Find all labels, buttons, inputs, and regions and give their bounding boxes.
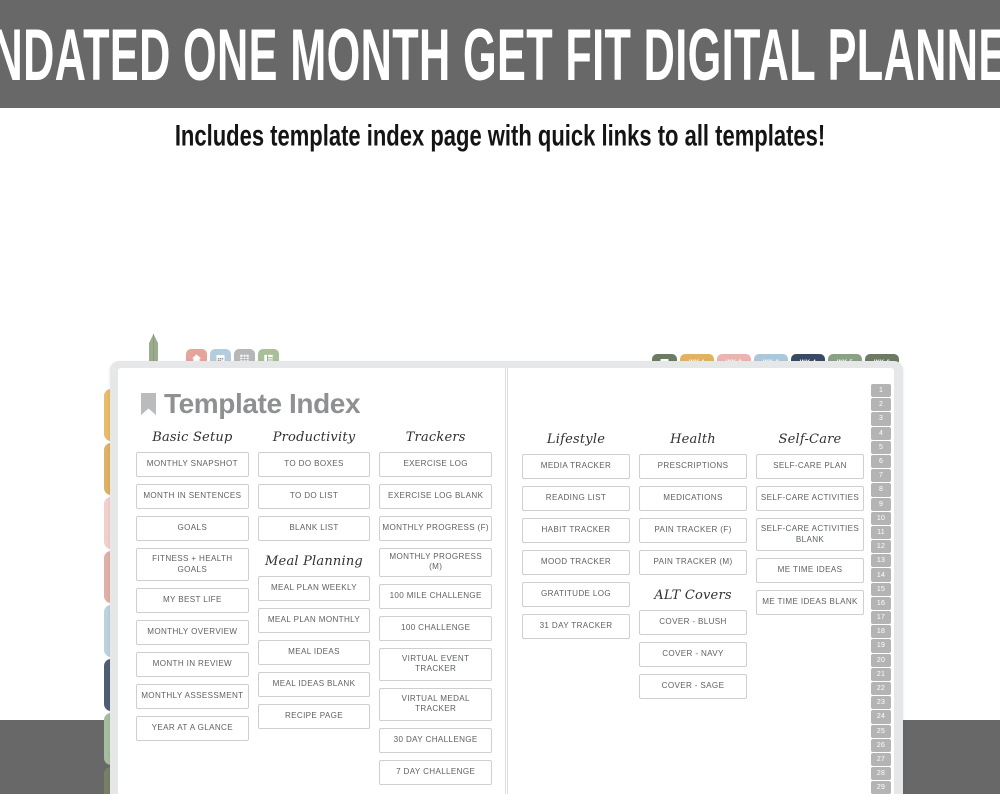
section-heading-meal-planning: Meal Planning [258, 554, 371, 569]
left-page: Template Index Basic SetupMONTHLY SNAPSH… [118, 368, 506, 794]
template-link-medications[interactable]: MEDICATIONS [639, 486, 747, 511]
day-tab-6[interactable]: 6 [871, 455, 891, 468]
section-heading-self-care: Self-Care [756, 432, 864, 447]
planner-stage: WK 1WK 2WK 3WK 4WK 5WK 6 Template Index … [0, 164, 1000, 720]
day-tab-19[interactable]: 19 [871, 639, 891, 652]
planner-device: Template Index Basic SetupMONTHLY SNAPSH… [110, 361, 903, 794]
day-tab-3[interactable]: 3 [871, 412, 891, 425]
day-tab-15[interactable]: 15 [871, 583, 891, 596]
day-tab-10[interactable]: 10 [871, 512, 891, 525]
template-link-virtual-medal-tracker[interactable]: VIRTUAL MEDAL TRACKER [379, 688, 492, 721]
template-link-self-care-activities-blank[interactable]: SELF-CARE ACTIVITIES BLANK [756, 518, 864, 551]
template-link-meal-plan-monthly[interactable]: MEAL PLAN MONTHLY [258, 608, 371, 633]
day-number-tabs: 1234567891011121314151617181920212223242… [871, 384, 891, 794]
template-link-media-tracker[interactable]: MEDIA TRACKER [522, 454, 630, 479]
planner-pages: Template Index Basic SetupMONTHLY SNAPSH… [118, 368, 894, 794]
day-tab-2[interactable]: 2 [871, 398, 891, 411]
subtitle-row: Includes template index page with quick … [0, 108, 1000, 164]
day-tab-16[interactable]: 16 [871, 597, 891, 610]
template-link-monthly-assessment[interactable]: MONTHLY ASSESSMENT [136, 684, 249, 709]
bookmark-icon [140, 392, 157, 416]
day-tab-25[interactable]: 25 [871, 725, 891, 738]
day-tab-28[interactable]: 28 [871, 767, 891, 780]
day-tab-29[interactable]: 29 [871, 781, 891, 794]
index-column-health: HealthPRESCRIPTIONSMEDICATIONSPAIN TRACK… [639, 432, 747, 706]
index-column-self-care: Self-CareSELF-CARE PLANSELF-CARE ACTIVIT… [756, 432, 864, 706]
template-link-month-in-review[interactable]: MONTH IN REVIEW [136, 652, 249, 677]
template-link-to-do-list[interactable]: TO DO LIST [258, 484, 371, 509]
template-link-pain-tracker-m[interactable]: PAIN TRACKER (M) [639, 550, 747, 575]
section-heading-lifestyle: Lifestyle [522, 432, 630, 447]
section-heading-health: Health [639, 432, 747, 447]
index-column-trackers: TrackersEXERCISE LOGEXERCISE LOG BLANKMO… [379, 430, 492, 792]
day-tab-11[interactable]: 11 [871, 526, 891, 539]
section-heading-productivity: Productivity [258, 430, 371, 445]
template-link-habit-tracker[interactable]: HABIT TRACKER [522, 518, 630, 543]
page-title: Template Index [164, 388, 360, 420]
template-link-7-day-challenge[interactable]: 7 DAY CHALLENGE [379, 760, 492, 785]
template-link-mood-tracker[interactable]: MOOD TRACKER [522, 550, 630, 575]
template-link-reading-list[interactable]: READING LIST [522, 486, 630, 511]
template-link-meal-plan-weekly[interactable]: MEAL PLAN WEEKLY [258, 576, 371, 601]
template-link-monthly-progress-m[interactable]: MONTHLY PROGRESS (M) [379, 548, 492, 577]
section-heading-alt-covers: ALT Covers [639, 588, 747, 603]
day-tab-9[interactable]: 9 [871, 498, 891, 511]
template-link-year-at-a-glance[interactable]: YEAR AT A GLANCE [136, 716, 249, 741]
day-tab-14[interactable]: 14 [871, 568, 891, 581]
page-title-row: Template Index [140, 388, 492, 420]
template-link-exercise-log-blank[interactable]: EXERCISE LOG BLANK [379, 484, 492, 509]
template-link-virtual-event-tracker[interactable]: VIRTUAL EVENT TRACKER [379, 648, 492, 681]
template-link-gratitude-log[interactable]: GRATITUDE LOG [522, 582, 630, 607]
template-link-30-day-challenge[interactable]: 30 DAY CHALLENGE [379, 728, 492, 753]
top-banner-title: UNDATED ONE MONTH GET FIT DIGITAL PLANNE… [0, 11, 1000, 96]
index-column-basic-setup: Basic SetupMONTHLY SNAPSHOTMONTH IN SENT… [136, 430, 249, 792]
template-link-self-care-activities[interactable]: SELF-CARE ACTIVITIES [756, 486, 864, 511]
template-link-prescriptions[interactable]: PRESCRIPTIONS [639, 454, 747, 479]
template-link-meal-ideas-blank[interactable]: MEAL IDEAS BLANK [258, 672, 371, 697]
day-tab-8[interactable]: 8 [871, 483, 891, 496]
template-link-recipe-page[interactable]: RECIPE PAGE [258, 704, 371, 729]
day-tab-4[interactable]: 4 [871, 427, 891, 440]
right-page: LifestyleMEDIA TRACKERREADING LISTHABIT … [506, 368, 894, 794]
template-link-me-time-ideas-blank[interactable]: ME TIME IDEAS BLANK [756, 590, 864, 615]
template-link-monthly-snapshot[interactable]: MONTHLY SNAPSHOT [136, 452, 249, 477]
day-tab-21[interactable]: 21 [871, 668, 891, 681]
template-link-monthly-overview[interactable]: MONTHLY OVERVIEW [136, 620, 249, 645]
day-tab-22[interactable]: 22 [871, 682, 891, 695]
day-tab-20[interactable]: 20 [871, 654, 891, 667]
day-tab-5[interactable]: 5 [871, 441, 891, 454]
template-link-100-mile-challenge[interactable]: 100 MILE CHALLENGE [379, 584, 492, 609]
left-page-columns: Basic SetupMONTHLY SNAPSHOTMONTH IN SENT… [136, 430, 492, 792]
subtitle-text: Includes template index page with quick … [175, 118, 825, 153]
day-tab-17[interactable]: 17 [871, 611, 891, 624]
index-column-lifestyle: LifestyleMEDIA TRACKERREADING LISTHABIT … [522, 432, 630, 706]
template-link-100-challenge[interactable]: 100 CHALLENGE [379, 616, 492, 641]
template-link-fitness-health-goals[interactable]: FITNESS + HEALTH GOALS [136, 548, 249, 581]
day-tab-27[interactable]: 27 [871, 753, 891, 766]
day-tab-7[interactable]: 7 [871, 469, 891, 482]
day-tab-26[interactable]: 26 [871, 739, 891, 752]
template-link-pain-tracker-f[interactable]: PAIN TRACKER (F) [639, 518, 747, 543]
template-link-me-time-ideas[interactable]: ME TIME IDEAS [756, 558, 864, 583]
section-heading-basic-setup: Basic Setup [136, 430, 249, 445]
day-tab-12[interactable]: 12 [871, 540, 891, 553]
template-link-monthly-progress-f[interactable]: MONTHLY PROGRESS (F) [379, 516, 492, 541]
template-link-blank-list[interactable]: BLANK LIST [258, 516, 371, 541]
day-tab-23[interactable]: 23 [871, 696, 891, 709]
template-link-to-do-boxes[interactable]: TO DO BOXES [258, 452, 371, 477]
template-link-self-care-plan[interactable]: SELF-CARE PLAN [756, 454, 864, 479]
template-link-meal-ideas[interactable]: MEAL IDEAS [258, 640, 371, 665]
template-link-cover-blush[interactable]: COVER - BLUSH [639, 610, 747, 635]
template-link-my-best-life[interactable]: MY BEST LIFE [136, 588, 249, 613]
top-banner: UNDATED ONE MONTH GET FIT DIGITAL PLANNE… [0, 0, 1000, 108]
day-tab-24[interactable]: 24 [871, 710, 891, 723]
right-page-columns: LifestyleMEDIA TRACKERREADING LISTHABIT … [522, 432, 864, 706]
template-link-exercise-log[interactable]: EXERCISE LOG [379, 452, 492, 477]
template-link-cover-navy[interactable]: COVER - NAVY [639, 642, 747, 667]
day-tab-18[interactable]: 18 [871, 625, 891, 638]
section-heading-trackers: Trackers [379, 430, 492, 445]
index-column-productivity: ProductivityTO DO BOXESTO DO LISTBLANK L… [258, 430, 371, 792]
template-link-month-in-sentences[interactable]: MONTH IN SENTENCES [136, 484, 249, 509]
template-link-goals[interactable]: GOALS [136, 516, 249, 541]
template-link-cover-sage[interactable]: COVER - SAGE [639, 674, 747, 699]
template-link-31-day-tracker[interactable]: 31 DAY TRACKER [522, 614, 630, 639]
day-tab-13[interactable]: 13 [871, 554, 891, 567]
day-tab-1[interactable]: 1 [871, 384, 891, 397]
